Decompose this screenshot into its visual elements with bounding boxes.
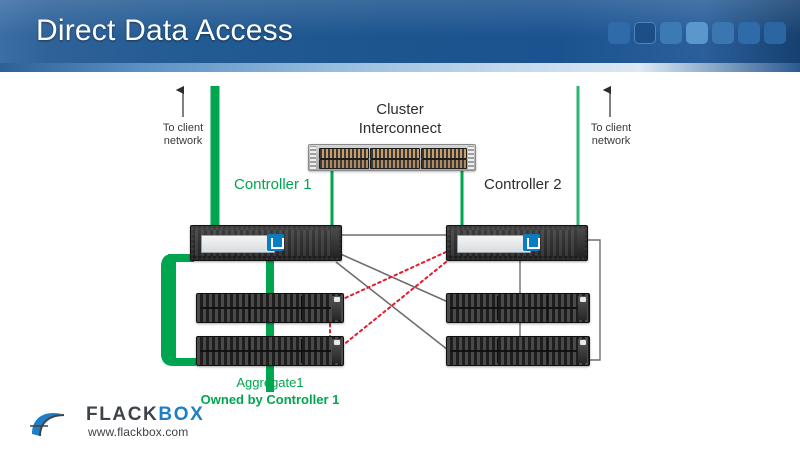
shelf-led-indicator: [580, 297, 586, 302]
right-client-label-line2: network: [592, 135, 631, 147]
shelf-bay-divider-1: [249, 296, 250, 320]
header-square-6: [738, 22, 760, 44]
switch-port-block-2: [370, 148, 420, 159]
cluster-interconnect-label: Cluster Interconnect: [330, 100, 470, 138]
shelf-bay-divider-2: [547, 339, 548, 363]
controller2-chassis: [446, 225, 588, 261]
header-square-7: [764, 22, 786, 44]
controller1-faceplate-badge: [201, 235, 275, 253]
header-bottom-glow: [0, 63, 800, 72]
shelf-row-divider: [200, 307, 331, 309]
cluster-interconnect-line2: Interconnect: [359, 120, 442, 137]
controller1-label: Controller 1: [234, 176, 312, 193]
right-client-network-label: To client network: [580, 122, 642, 148]
right-disk-shelf-top: [446, 293, 590, 323]
header-square-decoration: [608, 22, 786, 44]
controller1-endcap: [331, 229, 339, 257]
right-disk-shelf-bottom: [446, 336, 590, 366]
switch-port-block-4: [319, 159, 369, 169]
left-client-label-line2: network: [164, 135, 203, 147]
left-disk-shelf-top: [196, 293, 344, 323]
left-disk-shelf-bottom: [196, 336, 344, 366]
shelf-row-divider: [450, 307, 577, 309]
header-square-1: [608, 22, 630, 44]
shelf-bay-divider-1: [249, 339, 250, 363]
page-title: Direct Data Access: [36, 14, 293, 48]
left-client-network-label: To client network: [152, 122, 214, 148]
header-square-5: [712, 22, 734, 44]
slide-root: Direct Data Access: [0, 0, 800, 450]
left-client-label-line1: To client: [163, 122, 203, 134]
shelf-bay-divider-2: [301, 296, 302, 320]
header-square-4: [686, 22, 708, 44]
shelf-row-divider: [200, 350, 331, 352]
switch-rack-ear-right: [468, 146, 474, 169]
controller2-label: Controller 2: [484, 176, 562, 193]
shelf-bay-divider-1: [497, 296, 498, 320]
netapp-logo-icon: [267, 234, 284, 251]
header-square-3: [660, 22, 682, 44]
logo-text-box: BOX: [158, 404, 204, 425]
flackbox-logo: FLACKBOX www.flackbox.com: [28, 404, 203, 444]
slide-header: Direct Data Access: [0, 0, 800, 72]
switch-port-block-1: [319, 148, 369, 159]
shelf-row-divider: [450, 350, 577, 352]
controller2-endcap: [577, 229, 585, 257]
aggregate-name-label: Aggregate1: [236, 375, 303, 390]
flackbox-swoosh-icon: [28, 406, 84, 440]
logo-text-flack: FLACK: [86, 404, 158, 425]
switch-port-block-3: [421, 148, 467, 159]
switch-rack-ear-left: [310, 146, 316, 169]
green-left-wrap-path: [172, 257, 190, 364]
aggregate-owner-label: Owned by Controller 1: [180, 391, 360, 408]
controller2-faceplate-badge: [457, 235, 531, 253]
header-square-2: [634, 22, 656, 44]
shelf-led-indicator: [334, 340, 340, 345]
netapp-logo-icon-2: [523, 234, 540, 251]
diagram-canvas: To client network To client network Clus…: [0, 72, 800, 450]
switch-port-block-6: [421, 159, 467, 169]
cluster-interconnect-switch: [308, 144, 476, 171]
cluster-interconnect-line1: Cluster: [376, 101, 424, 118]
shelf-led-indicator: [580, 340, 586, 345]
shelf-bay-divider-2: [547, 296, 548, 320]
shelf-bay-divider-2: [301, 339, 302, 363]
shelf-led-indicator: [334, 297, 340, 302]
red-failover-to-left-shelf-top: [332, 252, 446, 304]
controller1-chassis: [190, 225, 342, 261]
flackbox-wordmark: FLACKBOX: [86, 404, 204, 426]
switch-port-block-5: [370, 159, 420, 169]
right-client-label-line1: To client: [591, 122, 631, 134]
aggregate-label-group: Aggregate1 Owned by Controller 1: [180, 374, 360, 408]
logo-url: www.flackbox.com: [88, 425, 188, 439]
shelf-bay-divider-1: [497, 339, 498, 363]
